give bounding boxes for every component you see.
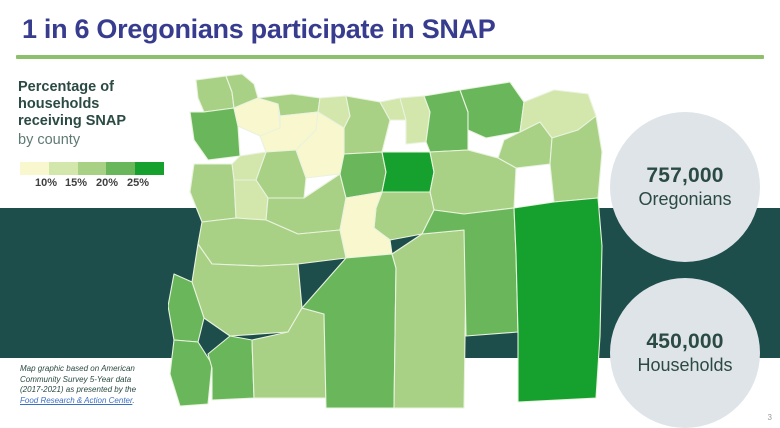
stat-circle-households: 450,000 Households [610,278,760,428]
legend-subtitle: by county [18,131,190,149]
legend-title: Percentage of households receiving SNAP [18,79,190,130]
footnote-line-1: Map graphic based on American [20,364,135,373]
county-lake [392,230,466,408]
slide-number: 3 [768,413,772,422]
legend-tick-labels: 10% 15% 20% 25% [20,175,164,191]
legend-swatch-1 [49,162,78,175]
county-lincoln [190,164,236,222]
legend-tick-3: 25% [127,177,149,189]
stat-label-households: Households [637,354,732,376]
oregon-county-choropleth-map [168,68,618,416]
legend-color-scale [20,162,164,175]
stat-value-oregonians: 757,000 [646,164,723,188]
county-morrow [424,90,468,152]
legend-swatch-2 [78,162,107,175]
source-footnote: Map graphic based on American Community … [20,364,210,406]
legend-swatch-3 [106,162,135,175]
legend-swatch-0 [20,162,49,175]
legend-title-line-2: households [18,96,190,113]
county-jefferson [340,152,386,198]
stat-value-households: 450,000 [646,330,723,354]
legend-swatch-4 [135,162,164,175]
stat-circle-oregonians: 757,000 Oregonians [610,112,760,262]
county-shapes [168,74,602,408]
county-wheeler [382,152,434,192]
footnote-line-2: Community Survey 5-Year data [20,375,131,384]
page-title: 1 in 6 Oregonians participate in SNAP [22,14,496,45]
legend-title-line-3: receiving SNAP [18,113,190,130]
map-svg [168,68,618,416]
map-legend: Percentage of households receiving SNAP … [18,79,190,191]
footnote-source-link[interactable]: Food Research & Action Center [20,396,132,405]
legend-tick-1: 15% [65,177,87,189]
legend-tick-0: 10% [35,177,57,189]
slide-canvas: 1 in 6 Oregonians participate in SNAP Pe… [0,0,780,428]
county-tillamook [190,108,240,160]
footnote-period: . [132,396,134,405]
legend-title-line-1: Percentage of [18,79,190,96]
title-underline-rule [16,55,764,59]
county-umatilla [460,82,524,138]
legend-tick-2: 20% [96,177,118,189]
footnote-line-3: (2017-2021) as presented by the [20,385,136,394]
county-malheur [514,198,602,402]
stat-label-oregonians: Oregonians [638,188,731,210]
county-josephine [208,336,254,400]
